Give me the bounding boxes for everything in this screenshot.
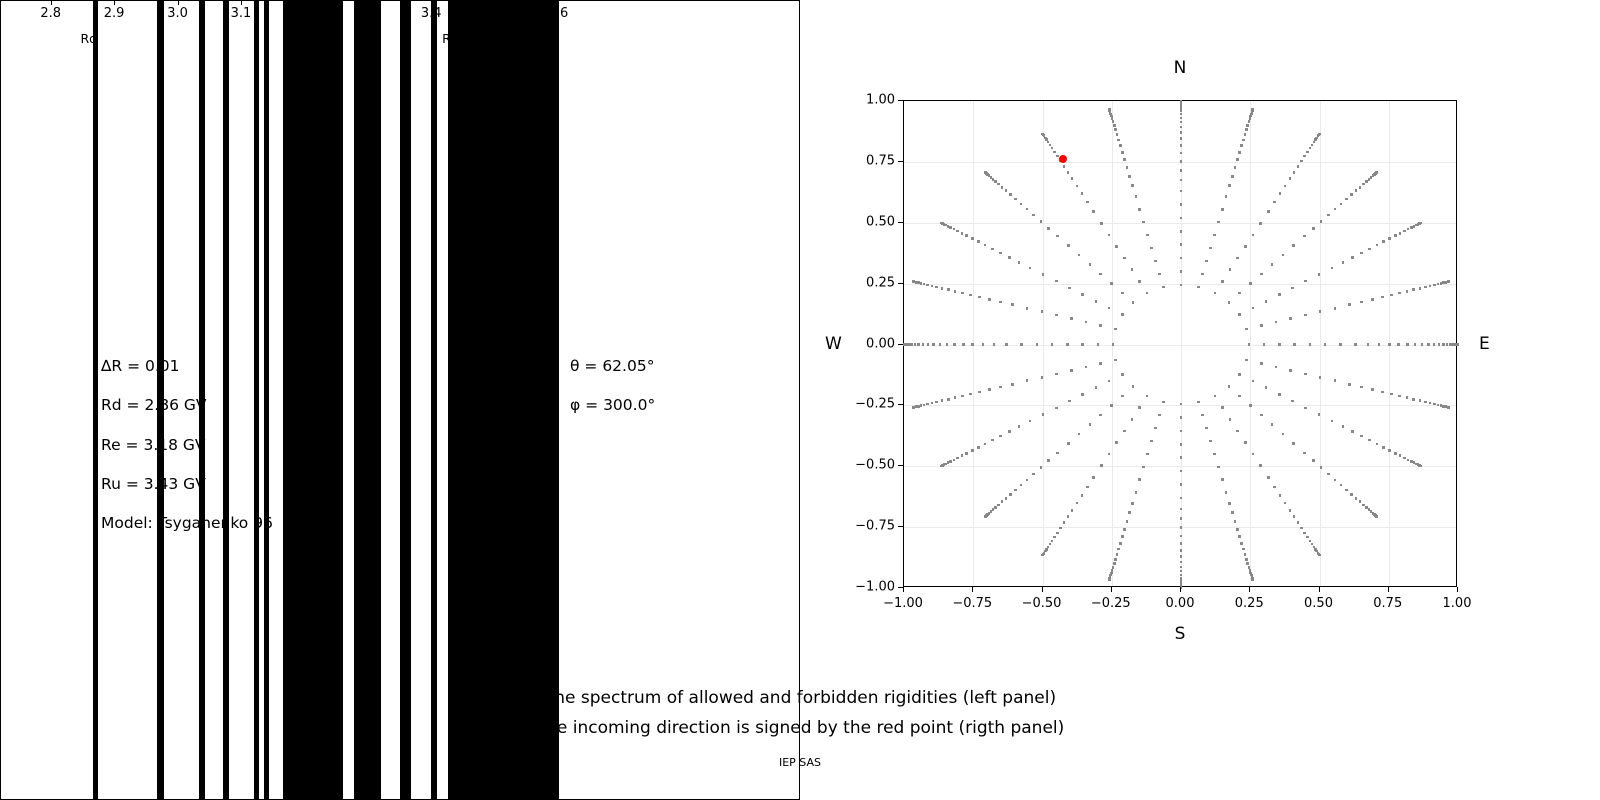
direction-dot: [977, 240, 980, 243]
direction-dot: [1360, 301, 1363, 304]
y-axis-tick: [898, 526, 903, 527]
direction-dot: [1180, 169, 1183, 172]
direction-dot: [1351, 430, 1354, 433]
gridline-horizontal: [904, 466, 1456, 467]
direction-dot: [1047, 141, 1050, 144]
direction-dot: [1297, 165, 1300, 168]
direction-dot: [1180, 203, 1183, 206]
direction-dot: [965, 452, 968, 455]
direction-dot: [1368, 439, 1371, 442]
direction-dot: [1246, 124, 1249, 127]
direction-dot: [1095, 300, 1098, 303]
direction-dot: [1259, 222, 1262, 225]
compass-north-label: N: [1174, 58, 1187, 78]
direction-dot: [1158, 414, 1161, 417]
direction-dot: [1229, 268, 1232, 271]
x-axis-tick: [1319, 587, 1320, 592]
direction-dot: [1078, 433, 1081, 436]
axis-tick-label: 3.4: [421, 6, 442, 21]
direction-dot: [1131, 418, 1134, 421]
direction-dot: [977, 446, 980, 449]
direction-dot: [1142, 466, 1145, 469]
axis-tick: [368, 0, 369, 5]
direction-dot: [922, 343, 925, 346]
direction-dot: [1252, 307, 1255, 310]
direction-dot: [1011, 383, 1014, 386]
direction-dot: [1318, 413, 1321, 416]
direction-dot: [1081, 343, 1084, 346]
x-axis-tick-label: 0.00: [1166, 596, 1195, 611]
y-axis-tick-label: 0.00: [845, 336, 895, 351]
direction-dot: [1117, 548, 1120, 551]
forbidden-band: [264, 1, 269, 799]
direction-dot: [920, 282, 923, 285]
direction-dot: [1112, 343, 1115, 346]
direction-dot: [1245, 359, 1248, 362]
forbidden-band: [431, 1, 437, 799]
param-ru: Ru = 3.43 GV: [101, 475, 206, 493]
direction-dot: [1282, 433, 1285, 436]
direction-dot: [1271, 263, 1274, 266]
direction-dot: [1429, 402, 1432, 405]
direction-dot: [1123, 528, 1126, 531]
direction-dot: [1217, 221, 1220, 224]
direction-dot: [1368, 248, 1371, 251]
direction-dot: [1354, 343, 1357, 346]
direction-dot: [1121, 151, 1124, 154]
direction-dot: [1047, 459, 1050, 462]
direction-dot: [991, 439, 994, 442]
direction-dot: [1312, 227, 1315, 230]
direction-dot: [1180, 121, 1183, 124]
direction-dot: [1360, 252, 1363, 255]
direction-dot: [1260, 362, 1263, 365]
direction-dot: [1221, 406, 1224, 409]
direction-dot: [1304, 280, 1307, 283]
direction-dot: [1209, 247, 1212, 250]
direction-dot: [1053, 536, 1056, 539]
direction-dot: [1289, 177, 1292, 180]
direction-dot: [940, 465, 943, 468]
direction-dot: [1097, 343, 1100, 346]
direction-dot: [1388, 237, 1391, 240]
direction-dot: [1340, 484, 1343, 487]
direction-dot: [1059, 527, 1062, 530]
direction-dot: [1340, 203, 1343, 206]
direction-dot: [1398, 292, 1401, 295]
direction-dot: [1419, 222, 1422, 225]
direction-dot: [1119, 542, 1122, 545]
x-axis-tick: [1457, 587, 1458, 592]
direction-dot: [1309, 147, 1312, 150]
direction-dot: [1278, 393, 1281, 396]
direction-dot: [1376, 244, 1379, 247]
direction-dot: [1248, 120, 1251, 123]
direction-dot: [1419, 287, 1422, 290]
x-axis-tick-label: −0.50: [1022, 596, 1062, 611]
direction-dot: [1056, 452, 1059, 455]
direction-dot: [1278, 293, 1281, 296]
direction-dot: [912, 406, 915, 409]
direction-dot: [1221, 478, 1224, 481]
direction-dot: [1240, 144, 1243, 147]
direction-dot: [935, 286, 938, 289]
direction-dot: [953, 228, 956, 231]
direction-dot: [1020, 343, 1023, 346]
direction-dot: [1300, 527, 1303, 530]
direction-dot: [1360, 435, 1363, 438]
direction-dot: [1055, 280, 1058, 283]
direction-dot: [1180, 257, 1183, 260]
direction-dot: [1085, 321, 1088, 324]
gridline-vertical: [1320, 101, 1321, 586]
direction-dot: [1231, 511, 1234, 514]
gridline-horizontal: [904, 405, 1456, 406]
selected-direction-marker[interactable]: [1059, 155, 1067, 163]
direction-dot: [1180, 100, 1183, 103]
direction-dot: [1008, 256, 1011, 259]
direction-dot: [1259, 464, 1262, 467]
direction-dot: [1081, 494, 1084, 497]
direction-dot: [1359, 500, 1362, 503]
direction-dot: [1303, 532, 1306, 535]
direction-dot: [1041, 133, 1044, 136]
direction-dot: [1041, 376, 1044, 379]
direction-dot: [941, 399, 944, 402]
y-axis-tick: [898, 283, 903, 284]
direction-dot: [999, 252, 1002, 255]
direction-dot: [1284, 502, 1287, 505]
direction-dot: [984, 515, 987, 518]
direction-dot: [1251, 108, 1254, 111]
direction-dot: [1260, 414, 1263, 417]
direction-dot: [1278, 343, 1281, 346]
y-axis-tick-label: 0.25: [845, 275, 895, 290]
gridline-vertical: [1250, 101, 1251, 586]
direction-dot: [1180, 113, 1183, 116]
direction-dot: [1394, 452, 1397, 455]
direction-dot: [1240, 542, 1243, 545]
direction-dot: [1289, 317, 1292, 320]
direction-dot: [1293, 343, 1296, 346]
direction-dot: [1086, 201, 1089, 204]
direction-dot: [1342, 425, 1345, 428]
direction-dot: [1429, 285, 1432, 288]
direction-dot: [1032, 473, 1035, 476]
direction-dot: [1214, 292, 1217, 295]
axis-tick: [431, 0, 432, 5]
direction-dot: [1265, 300, 1268, 303]
direction-dot: [956, 230, 959, 233]
direction-dot: [1070, 369, 1073, 372]
direction-dot: [1126, 166, 1129, 169]
direction-dot: [1244, 133, 1247, 136]
direction-dot: [1067, 244, 1070, 247]
direction-dot: [1221, 280, 1224, 283]
direction-dot: [1205, 260, 1208, 263]
axis-tick: [304, 0, 305, 5]
direction-dot: [1029, 267, 1032, 270]
direction-dot: [1327, 473, 1330, 476]
direction-dot: [1056, 532, 1059, 535]
direction-dot: [1447, 406, 1450, 409]
direction-dot: [1011, 303, 1014, 306]
direction-dot: [1265, 386, 1268, 389]
direction-dot: [1018, 261, 1021, 264]
footer-credit: IEP SAS: [0, 756, 1600, 769]
direction-dot: [1135, 491, 1138, 494]
x-axis-tick-label: 0.50: [1304, 596, 1333, 611]
direction-dot: [1115, 441, 1118, 444]
direction-dot: [961, 292, 964, 295]
param-rd: Rd = 2.86 GV: [101, 396, 207, 414]
direction-dot: [1108, 453, 1111, 456]
direction-dot: [1180, 430, 1183, 433]
direction-dot: [1180, 508, 1183, 511]
direction-dot: [1406, 290, 1409, 293]
direction-dot: [993, 343, 996, 346]
direction-dot: [1245, 128, 1248, 131]
direction-dot: [1005, 343, 1008, 346]
y-axis-tick-label: 0.75: [845, 153, 895, 168]
direction-dot: [1414, 343, 1417, 346]
direction-dot: [1008, 430, 1011, 433]
direction-dot: [1279, 494, 1282, 497]
direction-dot: [1289, 369, 1292, 372]
direction-dot: [1114, 558, 1117, 561]
direction-dot: [926, 403, 929, 406]
direction-dot: [1242, 139, 1245, 142]
direction-dot: [1376, 443, 1379, 446]
direction-dot: [1180, 230, 1183, 233]
direction-dot: [961, 395, 964, 398]
direction-dot: [1242, 548, 1245, 551]
direction-dot: [969, 294, 972, 297]
direction-dot: [1123, 257, 1126, 260]
direction-dot: [1398, 395, 1401, 398]
y-axis-tick-label: −0.75: [845, 519, 895, 534]
direction-dot: [1394, 234, 1397, 237]
direction-dot: [1238, 313, 1241, 316]
direction-dot: [1217, 466, 1220, 469]
direction-dot: [984, 443, 987, 446]
direction-dot: [1228, 301, 1231, 304]
direction-dot: [1040, 466, 1043, 469]
direction-dot: [1146, 453, 1149, 456]
axis-line: [0, 0, 800, 1]
direction-dot: [1089, 263, 1092, 266]
param-delta-r: ∆R = 0.01: [101, 357, 180, 375]
direction-dot: [940, 222, 943, 225]
direction-dot: [1026, 208, 1029, 211]
forbidden-band: [223, 1, 229, 799]
direction-dot: [1371, 298, 1374, 301]
direction-dot: [1238, 535, 1241, 538]
direction-dot: [1121, 535, 1124, 538]
direction-dot: [1263, 343, 1266, 346]
direction-dot: [1138, 478, 1141, 481]
direction-dot: [991, 248, 994, 251]
direction-dot: [932, 343, 935, 346]
direction-dot: [1081, 192, 1084, 195]
direction-dot: [994, 180, 997, 183]
direction-dot: [988, 388, 991, 391]
direction-dot: [1275, 366, 1278, 369]
direction-dot: [1252, 380, 1255, 383]
direction-dot: [1334, 307, 1337, 310]
caption-line-1: The spectrum of allowed and forbidden ri…: [0, 688, 1600, 708]
compass-west-label: W: [825, 334, 842, 354]
caption-line-2: The incoming direction is signed by the …: [0, 718, 1600, 738]
direction-dot: [1355, 497, 1358, 500]
direction-dot: [1221, 208, 1224, 211]
direction-dot: [1388, 343, 1391, 346]
direction-dot: [912, 280, 915, 283]
direction-dot: [1108, 307, 1111, 310]
y-axis-tick: [898, 222, 903, 223]
x-axis-tick: [1180, 587, 1181, 592]
direction-dot: [1365, 180, 1368, 183]
direction-dot: [1081, 293, 1084, 296]
direction-dot: [947, 288, 950, 291]
direction-dot: [1229, 418, 1232, 421]
direction-dot: [1180, 483, 1183, 486]
direction-dot: [1249, 404, 1252, 407]
direction-dot: [1399, 232, 1402, 235]
gridline-horizontal: [904, 345, 1456, 346]
direction-dot: [1131, 184, 1134, 187]
direction-dot: [1339, 343, 1342, 346]
direction-dot: [1412, 288, 1415, 291]
direction-dot: [1209, 440, 1212, 443]
direction-dot: [1291, 287, 1294, 290]
direction-dot: [1071, 177, 1074, 180]
rigidity-spectrum-chart: [0, 0, 558, 99]
direction-dot: [971, 343, 974, 346]
axis-tick-label: 2.9: [104, 6, 125, 21]
direction-dot: [1388, 449, 1391, 452]
direction-dot: [1311, 144, 1314, 147]
direction-dot: [1070, 317, 1073, 320]
axis-tick-label: 3.6: [548, 6, 569, 21]
direction-dot: [1053, 151, 1056, 154]
direction-dot: [994, 506, 997, 509]
y-axis-tick-label: −0.50: [845, 458, 895, 473]
axis-tick: [558, 0, 559, 5]
direction-dot: [923, 283, 926, 286]
direction-dot: [1334, 479, 1337, 482]
direction-dot: [1180, 403, 1183, 406]
x-axis-tick-label: −0.25: [1091, 596, 1131, 611]
direction-dot: [1110, 282, 1113, 285]
direction-dot: [1244, 553, 1247, 556]
direction-dot: [1067, 442, 1070, 445]
direction-dot: [1236, 257, 1239, 260]
direction-dot: [1320, 220, 1323, 223]
direction-dot: [1297, 521, 1300, 524]
direction-dot: [1324, 343, 1327, 346]
direction-dot: [1180, 137, 1183, 140]
forbidden-band: [93, 1, 98, 799]
compass-south-label: S: [1175, 624, 1186, 644]
direction-dot: [914, 343, 917, 346]
direction-dot: [1252, 453, 1255, 456]
marker-label: Re: [284, 31, 300, 46]
direction-dot: [1378, 343, 1381, 346]
direction-dot: [1300, 160, 1303, 163]
direction-dot: [1067, 171, 1070, 174]
direction-dot: [1121, 313, 1124, 316]
direction-dot: [1110, 404, 1113, 407]
direction-dot: [1350, 493, 1353, 496]
direction-dot: [1334, 379, 1337, 382]
direction-dot: [1114, 128, 1117, 131]
direction-dot: [962, 343, 965, 346]
direction-dot: [1150, 247, 1153, 250]
direction-dot: [1036, 343, 1039, 346]
direction-dot: [1123, 430, 1126, 433]
direction-dot: [1442, 343, 1445, 346]
direction-dot: [1146, 292, 1149, 295]
direction-dot: [1334, 208, 1337, 211]
direction-dot: [1205, 427, 1208, 430]
direction-dot: [1214, 395, 1217, 398]
direction-dot: [935, 401, 938, 404]
x-axis-tick-label: 1.00: [1443, 596, 1472, 611]
direction-dot: [1234, 520, 1237, 523]
direction-dot: [1359, 186, 1362, 189]
direction-dot: [1309, 343, 1312, 346]
direction-dot: [903, 343, 906, 346]
gridline-horizontal: [904, 223, 1456, 224]
direction-dot: [949, 460, 952, 463]
direction-dot: [1419, 465, 1422, 468]
direction-dot: [1228, 502, 1231, 505]
direction-dot: [1063, 165, 1066, 168]
direction-dot: [1421, 343, 1424, 346]
direction-dot: [1051, 343, 1054, 346]
direction-dot: [1197, 286, 1200, 289]
direction-dot: [1320, 466, 1323, 469]
direction-dot: [1042, 273, 1045, 276]
direction-dot: [1117, 139, 1120, 142]
marker-label: Rd: [80, 31, 97, 46]
direction-dot: [1245, 558, 1248, 561]
left-panel: Geografic position: 49.16°N 22.28°E 2001…: [0, 0, 800, 800]
x-axis-tick-label: 0.75: [1373, 596, 1402, 611]
direction-dot: [1014, 489, 1017, 492]
y-axis-tick-label: −1.00: [845, 580, 895, 595]
direction-dot: [1225, 195, 1228, 198]
direction-dot: [1138, 208, 1141, 211]
direction-dot: [1342, 261, 1345, 264]
direction-dot: [1116, 133, 1119, 136]
direction-dot: [1275, 321, 1278, 324]
direction-map-plot-area: [903, 100, 1457, 587]
direction-dot: [961, 232, 964, 235]
direction-dot: [1114, 328, 1117, 331]
direction-dot: [1419, 399, 1422, 402]
direction-dot: [1201, 414, 1204, 417]
param-model: Model: Tsyganenko 96: [101, 514, 273, 532]
direction-dot: [1447, 280, 1450, 283]
direction-dot: [1100, 222, 1103, 225]
direction-dot: [1303, 155, 1306, 158]
direction-dot: [1085, 366, 1088, 369]
forbidden-band: [400, 1, 411, 799]
x-axis-tick-label: −1.00: [883, 596, 923, 611]
axis-tick-label: 3.5: [484, 6, 505, 21]
